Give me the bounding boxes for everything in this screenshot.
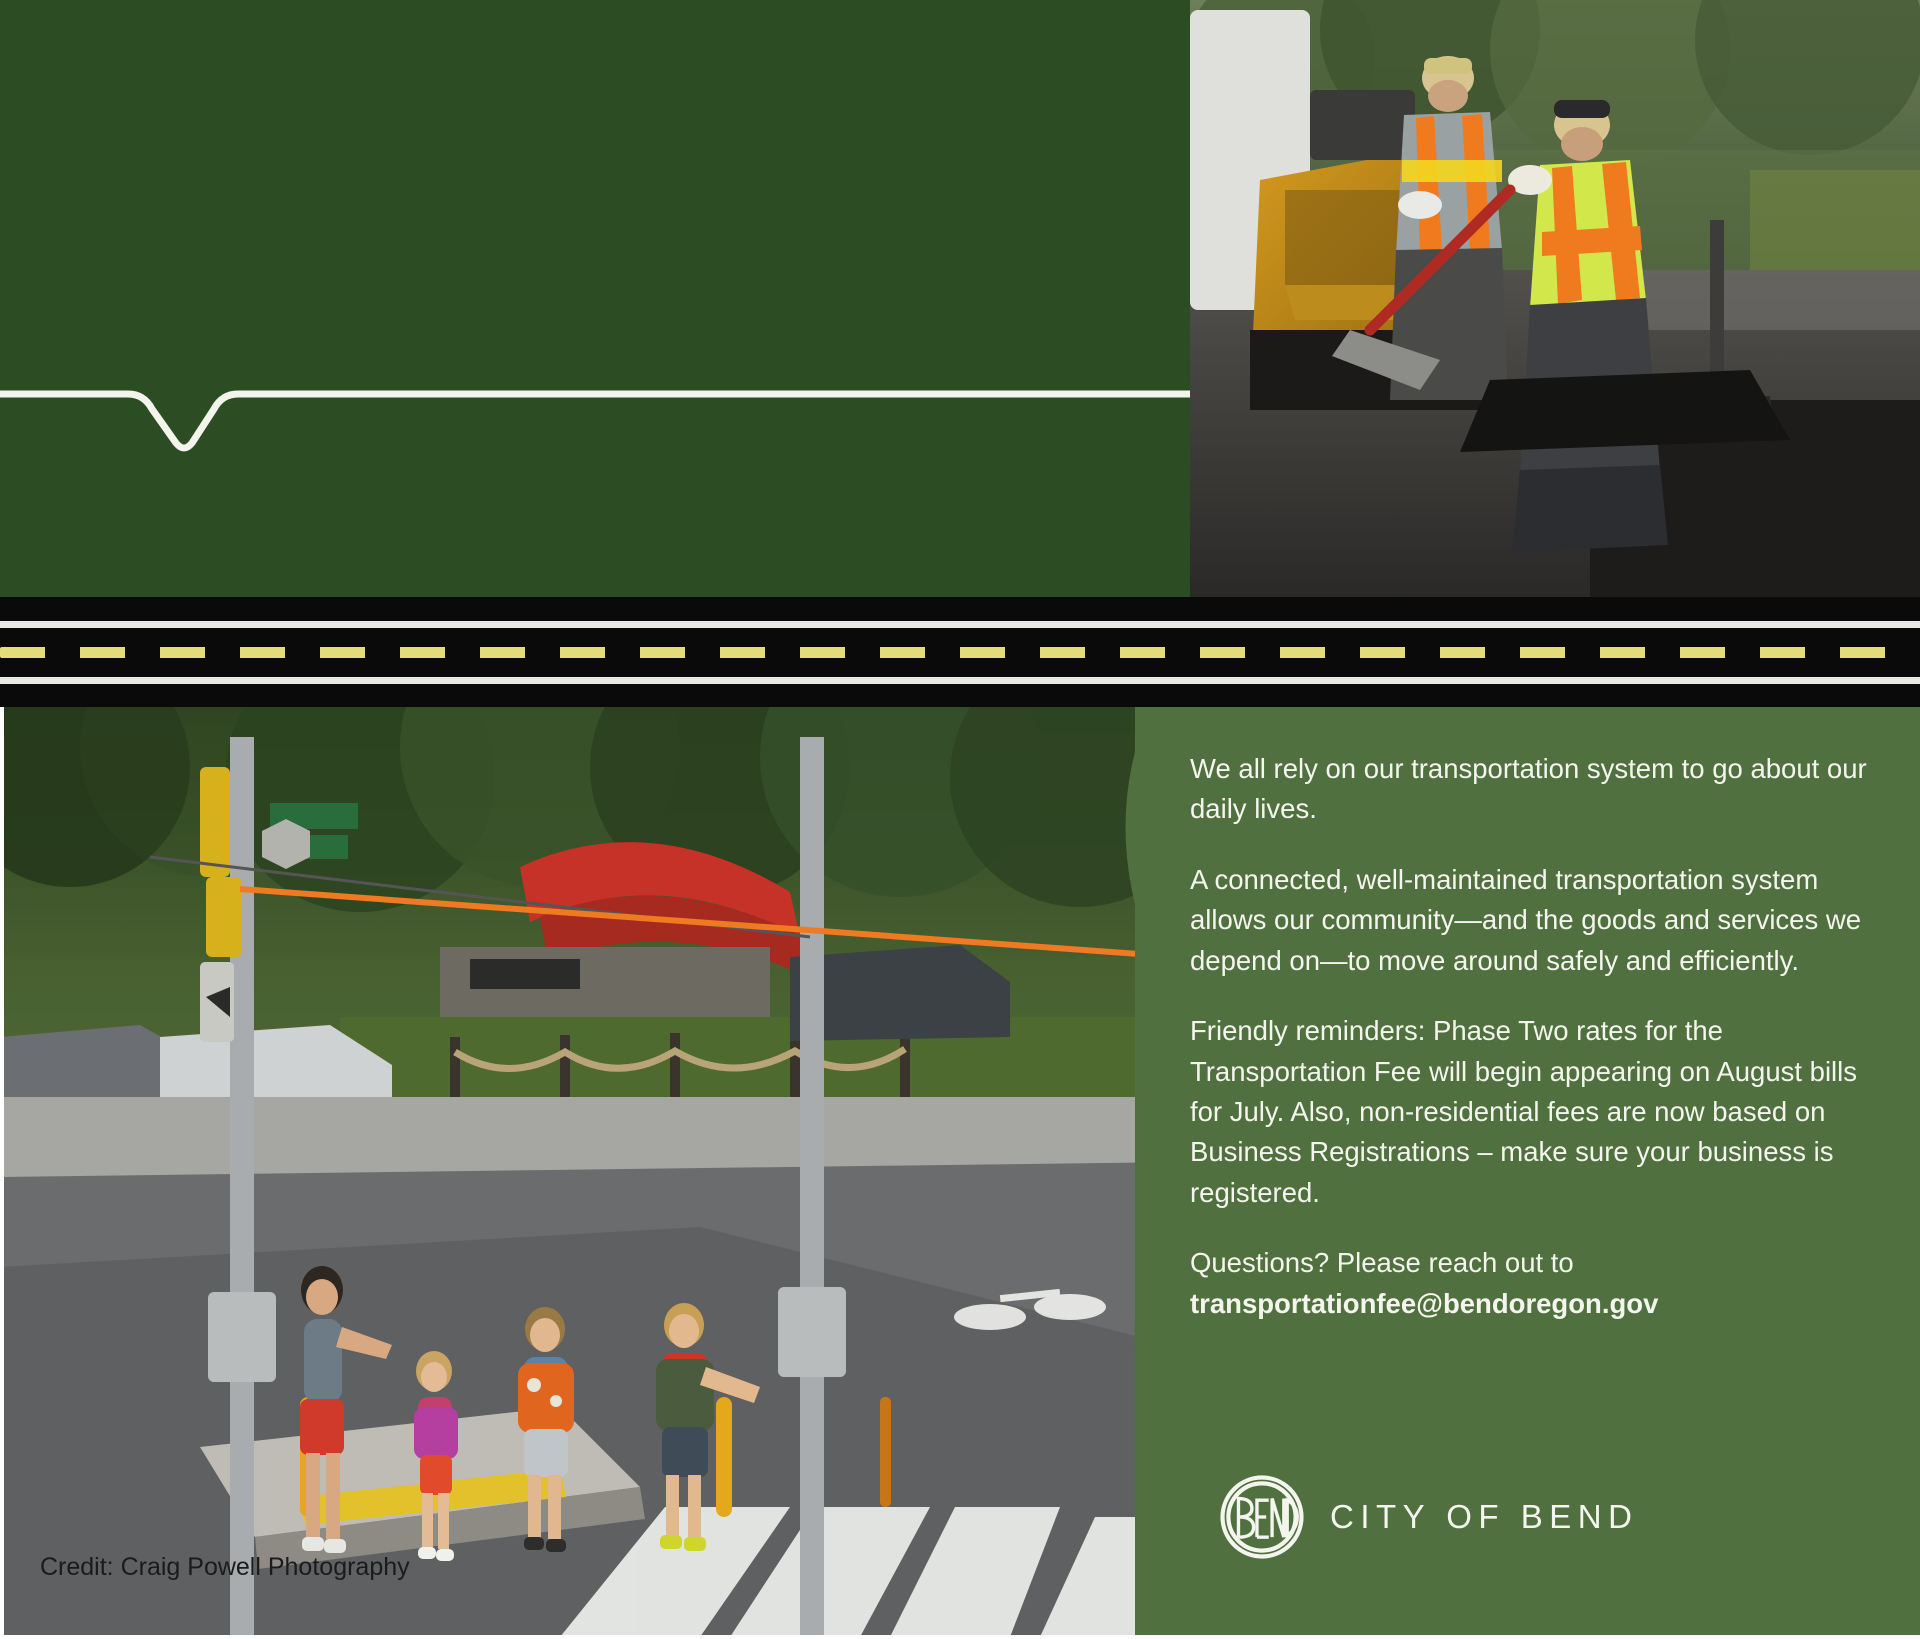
road-edge-line-top: [0, 621, 1920, 628]
hero-green-block: [0, 0, 1190, 597]
frame-edge-bottom: [0, 1635, 1920, 1639]
panel-paragraph-1: We all rely on our transportation system…: [1190, 749, 1880, 830]
street-crossing-photo: [0, 707, 1180, 1639]
city-of-bend-wordmark: CITY OF BEND: [1330, 1498, 1638, 1536]
questions-lead: Questions? Please reach out to: [1190, 1247, 1574, 1278]
frame-edge-left: [0, 707, 4, 1639]
speech-bubble-rule: [0, 385, 1190, 453]
bottom-band: We all rely on our transportation system…: [0, 707, 1920, 1639]
panel-body-copy: We all rely on our transportation system…: [1190, 749, 1880, 1324]
panel-paragraph-3: Friendly reminders: Phase Two rates for …: [1190, 1011, 1880, 1213]
contact-email[interactable]: transportationfee@bendoregon.gov: [1190, 1288, 1658, 1319]
panel-paragraph-2: A connected, well-maintained transportat…: [1190, 860, 1880, 981]
paving-crew-photo: [1190, 0, 1920, 597]
city-of-bend-logo: CITY OF BEND: [1220, 1475, 1638, 1559]
photo-credit: Credit: Craig Powell Photography: [40, 1553, 410, 1582]
road-edge-line-bottom: [0, 677, 1920, 684]
bend-circle-logo-icon: [1220, 1475, 1304, 1559]
hero-band: You maintain things in your life to last…: [0, 0, 1920, 597]
road-center-dashes: [0, 647, 1920, 658]
panel-paragraph-4: Questions? Please reach out to transport…: [1190, 1243, 1880, 1324]
flyer-page: You maintain things in your life to last…: [0, 0, 1920, 1639]
road-stripe-divider: [0, 597, 1920, 707]
